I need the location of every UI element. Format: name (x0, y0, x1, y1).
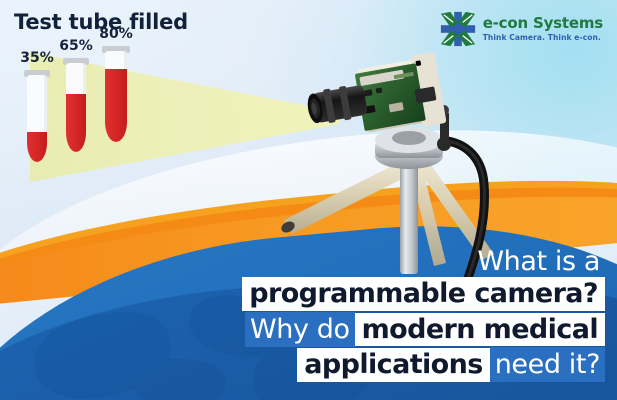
test-tube-3: 80% (105, 46, 127, 142)
test-tube-2: 65% (66, 58, 86, 152)
test-tube-2-glass (66, 63, 86, 152)
logo-tagline: Think Camera. Think e-con. (483, 34, 603, 42)
headline-block: What is a programmable camera? Why domod… (242, 248, 605, 384)
headline-text-why-do: Why do (245, 312, 355, 347)
test-tube-3-glass (105, 51, 127, 142)
test-tube-2-label: 65% (59, 38, 93, 54)
logo-company-name: e-con Systems (483, 16, 603, 31)
headline-text-programmable-camera: programmable camera? (242, 277, 605, 311)
test-tube-3-fill (105, 69, 127, 142)
test-tube-1: 35% (27, 70, 47, 162)
headline-line-4: applicationsneed it? (242, 348, 605, 382)
test-tube-1-glass (27, 75, 47, 162)
econ-cross-logo-icon (439, 10, 477, 48)
headline-line-3: Why domodern medical (242, 313, 605, 347)
headline-line-2: programmable camera? (242, 277, 605, 311)
chart-title: Test tube filled (14, 10, 188, 34)
camera-lens (305, 83, 368, 127)
headline-text-modern-medical: modern medical (355, 313, 605, 347)
test-tube-2-fill (66, 94, 86, 152)
headline-text-need-it: need it? (490, 347, 605, 382)
headline-text-applications: applications (297, 348, 489, 382)
brand-logo[interactable]: e-con Systems Think Camera. Think e-con. (439, 10, 603, 48)
test-tube-1-label: 35% (20, 50, 54, 66)
banner-canvas: Test tube filled 35% 65% 80% (0, 0, 617, 400)
headline-text-what-is-a: What is a (472, 244, 605, 279)
test-tube-1-fill (27, 132, 47, 162)
headline-line-1: What is a (242, 248, 605, 276)
